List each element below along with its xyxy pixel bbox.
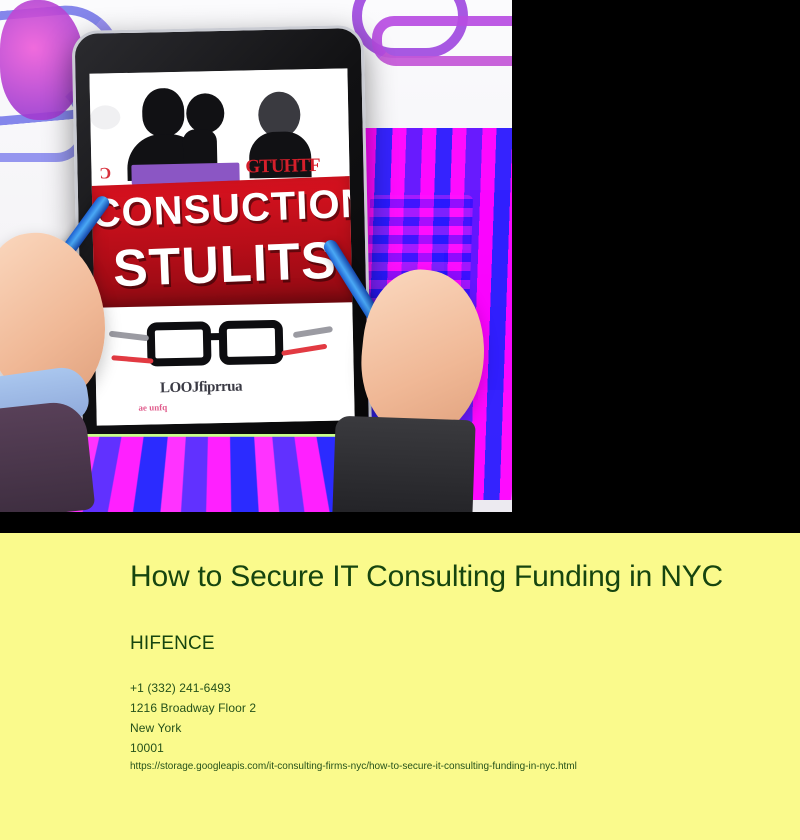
banner-headline-line-1: CONSUCTION [91,182,355,237]
contact-zip: 10001 [130,738,730,758]
page-title: How to Secure IT Consulting Funding in N… [130,561,730,593]
hero-letterbox-band: Ɔ GTUHTF CONSUCTION STULITS [0,0,800,533]
glasses-temple [293,326,333,338]
red-scribble-text: Ɔ [99,165,125,184]
brand-name: HIFENCE [130,633,215,655]
lens-right [219,320,284,365]
contact-city: New York [130,718,730,738]
squiggle-doodle-icon [372,16,512,66]
tablet-screen: Ɔ GTUHTF CONSUCTION STULITS [89,68,354,425]
grey-scribble-text: LOOJfiprrua [160,377,300,397]
person-face-icon [90,105,120,130]
sleeve-right [332,416,475,512]
sleeve-left [0,400,95,512]
contact-street: 1216 Broadway Floor 2 [130,698,730,718]
contact-phone[interactable]: +1 (332) 241-6493 [130,678,730,698]
lens-left [147,321,212,366]
pink-scribble-text: ae unfq [138,402,167,413]
person-silhouette-icon [186,93,225,134]
red-scribble-text: GTUHTF [245,155,329,179]
source-url-link[interactable]: https://storage.googleapis.com/it-consul… [130,760,577,774]
content-panel: How to Secure IT Consulting Funding in N… [0,533,800,840]
banner-headline-line-2: STULITS [93,230,355,300]
poster-red-banner: CONSUCTION STULITS [89,176,354,314]
person-silhouette-icon [142,88,185,137]
hero-illustration: Ɔ GTUHTF CONSUCTION STULITS [0,0,512,512]
contact-block: +1 (332) 241-6493 1216 Broadway Floor 2 … [130,678,730,758]
glasses-bridge [209,333,223,340]
eyeglasses-icon [147,319,298,368]
screen-lower-artwork: LOOJfiprrua ae unfq [94,302,354,425]
glasses-temple [109,331,149,342]
person-silhouette-icon [183,129,218,166]
person-face-icon [89,73,116,106]
screen-upper-artwork: Ɔ GTUHTF [89,68,349,185]
